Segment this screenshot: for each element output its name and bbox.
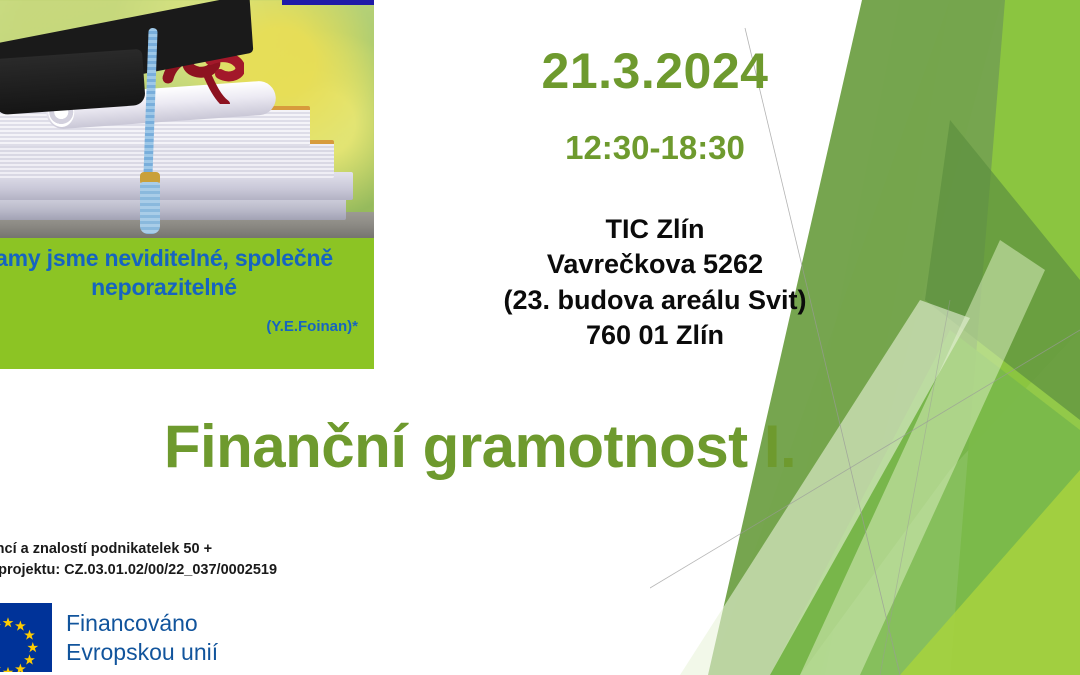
- graduation-cap-books-photo: [0, 0, 374, 238]
- quote-text: amy jsme neviditelné, společně neporazit…: [0, 244, 374, 303]
- project-reg-label: ační číslo projektu:: [0, 562, 64, 578]
- eu-funding-caption: Financováno Evropskou unií: [66, 609, 218, 665]
- page-title: Finanční gramotnost I.: [0, 412, 960, 481]
- event-venue: TIC Zlín Vavrečkova 5262 (23. budova are…: [440, 212, 870, 353]
- event-date: 21.3.2024: [455, 42, 855, 100]
- project-name-label: rojektu:: [0, 518, 408, 539]
- venue-line: TIC Zlín: [440, 212, 870, 247]
- project-reg-value: CZ.03.01.02/00/22_037/0002519: [64, 562, 277, 578]
- tassel-skirt: [140, 182, 160, 234]
- event-time: 12:30-18:30: [455, 129, 855, 167]
- project-name-value: í kompetencí a znalostí podnikatelek 50 …: [0, 539, 408, 560]
- quote-author: (Y.E.Foinan)*: [266, 318, 358, 335]
- presentation-slide: amy jsme neviditelné, společně neporazit…: [0, 0, 1080, 675]
- eu-caption-line1: Financováno: [66, 609, 218, 637]
- book-stack-item: [0, 198, 346, 220]
- eu-caption-line2: Evropskou unií: [66, 638, 218, 666]
- graduation-photo-block: amy jsme neviditelné, společně neporazit…: [0, 0, 374, 369]
- venue-line: Vavrečkova 5262: [440, 247, 870, 282]
- photo-top-blue-rule: [282, 0, 374, 5]
- eu-flag-icon: [0, 603, 52, 672]
- venue-line: 760 01 Zlín: [440, 318, 870, 353]
- project-registration-line: ační číslo projektu: CZ.03.01.02/00/22_0…: [0, 560, 408, 581]
- venue-line: (23. budova areálu Svit): [440, 283, 870, 318]
- quote-banner: amy jsme neviditelné, společně neporazit…: [0, 238, 374, 369]
- mortarboard-crown: [0, 49, 146, 115]
- eu-funding-logo: Financováno Evropskou unií: [0, 603, 218, 672]
- project-info: rojektu: í kompetencí a znalostí podnika…: [0, 518, 408, 581]
